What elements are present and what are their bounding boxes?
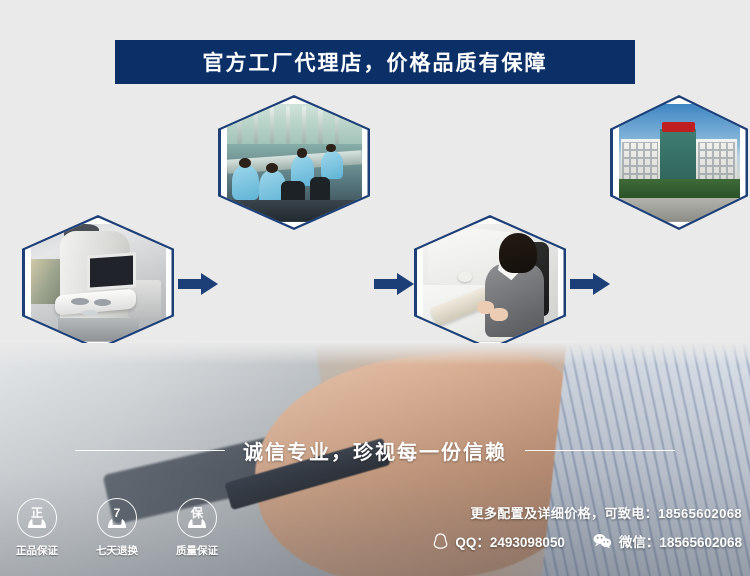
contact-block: 更多配置及详细价格，可致电：18565602068 QQ：2493098050 [433, 503, 742, 551]
section-fade [0, 343, 750, 365]
process-step-4[interactable] [610, 95, 748, 230]
process-flow [0, 95, 750, 345]
badge-seven-day-circle: 7 [97, 498, 137, 538]
factory-assembly-line-photo [227, 104, 362, 222]
process-step-1[interactable] [22, 215, 174, 350]
badge-seven-day-label: 七天退换 [96, 543, 138, 558]
wechat-icon [593, 533, 612, 549]
hands-holding-icon [26, 518, 48, 529]
badge-authentic: 正 正品保证 [8, 498, 66, 558]
wechat-label: 微信：18565602068 [619, 531, 742, 551]
qq-label: QQ：2493098050 [455, 531, 565, 551]
tagline-rule-right [525, 450, 675, 451]
promo-page: 官方工厂代理店，价格品质有保障 [0, 0, 750, 576]
company-building-photo [619, 104, 740, 222]
tagline-text: 诚信专业，珍视每一份信赖 [243, 436, 507, 465]
arrow-right-icon-3 [570, 271, 610, 297]
badge-seven-day-return: 7 七天退换 [88, 498, 146, 558]
badge-authentic-circle: 正 [17, 498, 57, 538]
badge-authentic-label: 正品保证 [16, 543, 58, 558]
badge-quality-circle: 保 [177, 498, 217, 538]
hands-holding-icon [186, 518, 208, 529]
tagline-row: 诚信专业，珍视每一份信赖 [0, 436, 750, 465]
contact-phone-line: 更多配置及详细价格，可致电：18565602068 [470, 503, 742, 522]
badge-quality-label: 质量保证 [176, 543, 218, 558]
medical-equipment-photo [31, 224, 166, 342]
top-section: 官方工厂代理店，价格品质有保障 [0, 0, 750, 343]
process-step-3[interactable] [414, 215, 566, 350]
qq-penguin-icon [433, 533, 448, 550]
arrow-right-icon-2 [374, 271, 414, 297]
office-worker-photo [423, 224, 558, 342]
guarantee-badges: 正 正品保证 7 七天退换 保 [8, 498, 226, 558]
header-banner: 官方工厂代理店，价格品质有保障 [115, 40, 635, 84]
hands-holding-icon [106, 518, 128, 529]
banner-title: 官方工厂代理店，价格品质有保障 [203, 47, 548, 77]
arrow-right-icon-1 [178, 271, 218, 297]
contact-im-line: QQ：2493098050 微信：18565602068 [433, 531, 742, 551]
process-step-2[interactable] [218, 95, 370, 230]
badge-quality: 保 质量保证 [168, 498, 226, 558]
tagline-rule-left [75, 450, 225, 451]
handshake-section: 诚信专业，珍视每一份信赖 正 正品保证 7 [0, 343, 750, 576]
